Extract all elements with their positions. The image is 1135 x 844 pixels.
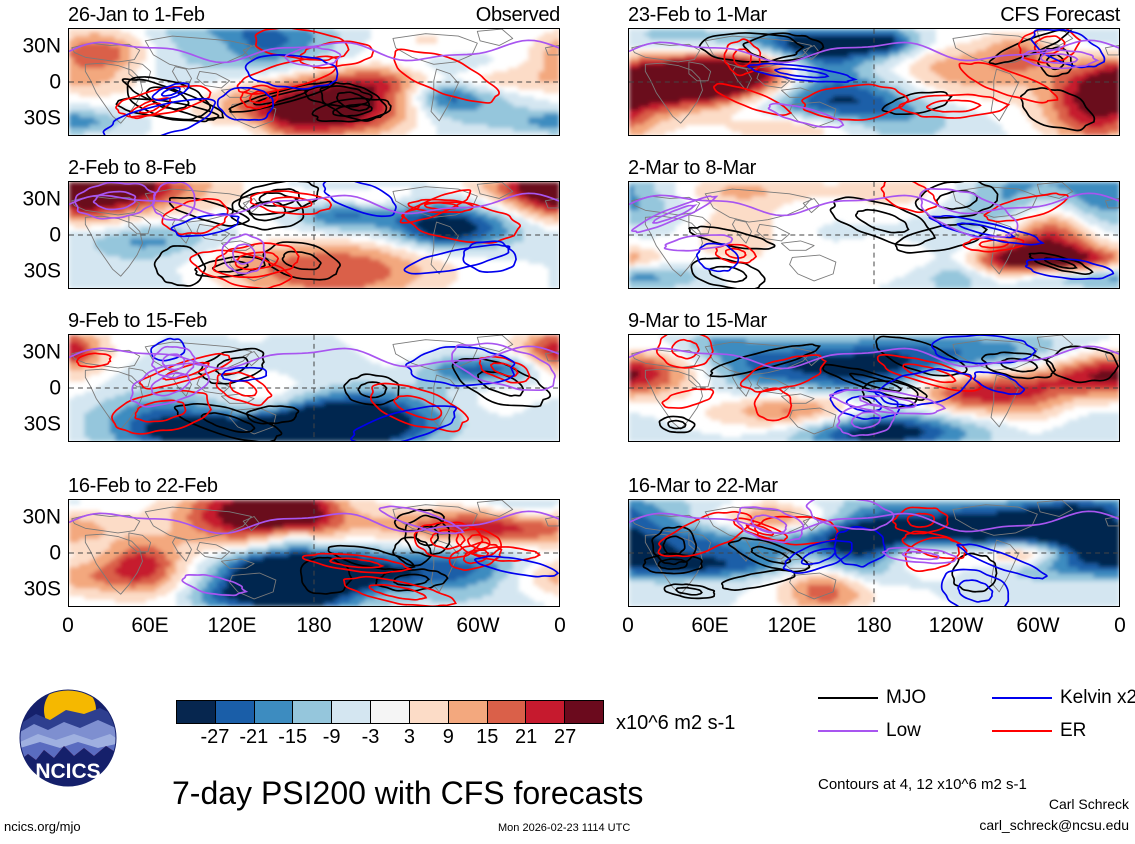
legend-line-icon [818,730,878,732]
map-canvas [68,181,560,289]
panel-title: 2-Mar to 8-Mar [628,158,756,178]
timestamp: Mon 2026-02-23 1114 UTC [498,822,630,834]
legend-line-icon [992,730,1052,732]
colorbar-tick-label: -9 [323,726,341,748]
panel-title: 16-Mar to 22-Mar [628,476,778,496]
x-axis: 060E120E180120W60W0 [68,615,560,643]
panel-title: 9-Mar to 15-Mar [628,311,767,331]
panel-title: 16-Feb to 22-Feb [68,476,218,496]
x-axis-tick-label: 180 [856,615,891,636]
colorbar-segment [216,701,255,723]
map-panel: 2-Mar to 8-Mar [628,181,1120,289]
panel-title: 23-Feb to 1-Mar [628,5,767,25]
colorbar-segment [255,701,294,723]
colorbar-segment [371,701,410,723]
y-axis-tick-label: 0 [49,543,61,564]
legend-label: MJO [886,688,926,707]
logo-label: NCICS [35,760,100,783]
y-axis-tick-label: 30N [22,342,61,363]
colorbar-segment [332,701,371,723]
colorbar-segment [177,701,216,723]
main-title: 7-day PSI200 with CFS forecasts [172,776,643,810]
legend-item-mjo: MJO [818,688,926,707]
colorbar [176,700,604,724]
colorbar-tick-labels: -27-21-15-9-339152127 [176,726,604,750]
column-header: Observed [476,5,560,25]
author-email[interactable]: carl_schreck@ncsu.edu [979,818,1129,833]
panel-title: 2-Feb to 8-Feb [68,158,196,178]
map-panel: 26-Jan to 1-FebObserved30N030S [68,28,560,136]
y-axis-tick-label: 30N [22,36,61,57]
colorbar-tick-label: -15 [278,726,307,748]
map-canvas [628,499,1120,607]
colorbar-tick-label: 9 [443,726,454,748]
map-panel: 2-Feb to 8-Feb30N030S [68,181,560,289]
panel-title: 26-Jan to 1-Feb [68,5,205,25]
x-axis-tick-label: 120W [929,615,984,636]
y-axis-tick-label: 30N [22,507,61,528]
map-panel: 23-Feb to 1-MarCFS Forecast [628,28,1120,136]
legend-line-icon [992,697,1052,699]
colorbar-tick-label: 15 [476,726,498,748]
map-canvas [68,499,560,607]
colorbar-segment [410,701,449,723]
y-axis-tick-label: 0 [49,378,61,399]
colorbar-tick-label: -21 [239,726,268,748]
author-name: Carl Schreck [1049,797,1129,812]
map-panel: 9-Feb to 15-Feb30N030S [68,334,560,442]
map-panel: 16-Mar to 22-Mar [628,499,1120,607]
legend-item-er: ER [992,721,1086,740]
map-canvas [68,334,560,442]
x-axis-tick-label: 0 [554,615,566,636]
colorbar-segment [526,701,565,723]
colorbar-swatches [176,700,604,724]
legend-label: Kelvin x2 [1060,688,1135,707]
x-axis-tick-label: 120E [767,615,816,636]
x-axis-tick-label: 60W [456,615,499,636]
y-axis-tick-label: 0 [49,72,61,93]
legend-item-low: Low [818,721,921,740]
colorbar-units-label: x10^6 m2 s-1 [616,713,735,733]
legend-label: ER [1060,721,1086,740]
map-canvas [628,181,1120,289]
y-axis-tick-label: 30N [22,189,61,210]
colorbar-tick-label: -3 [362,726,380,748]
colorbar-segment [449,701,488,723]
x-axis-tick-label: 0 [62,615,74,636]
y-axis-tick-label: 0 [49,225,61,246]
x-axis-tick-label: 60E [131,615,168,636]
map-canvas [628,28,1120,136]
colorbar-tick-label: 21 [515,726,537,748]
contour-note: Contours at 4, 12 x10^6 m2 s-1 [818,777,1027,793]
panel-title: 9-Feb to 15-Feb [68,311,207,331]
colorbar-tick-label: -27 [200,726,229,748]
ncics-logo: NCICS [14,684,122,792]
colorbar-tick-label: 3 [404,726,415,748]
map-panel: 16-Feb to 22-Feb30N030S [68,499,560,607]
column-header: CFS Forecast [1000,5,1120,25]
legend-item-kelvin: Kelvin x2 [992,688,1135,707]
map-canvas [68,28,560,136]
colorbar-segment [488,701,527,723]
x-axis-tick-label: 60W [1016,615,1059,636]
legend-line-icon [818,697,878,699]
x-axis-tick-label: 180 [296,615,331,636]
x-axis: 060E120E180120W60W0 [628,615,1120,643]
contour-legend: MJO Kelvin x2 Low ER [818,688,1128,750]
panel-grid: 26-Jan to 1-FebObserved30N030S23-Feb to … [0,0,1135,620]
x-axis-tick-label: 0 [1114,615,1126,636]
y-axis-tick-label: 30S [24,414,61,435]
y-axis-tick-label: 30S [24,108,61,129]
x-axis-tick-label: 0 [622,615,634,636]
x-axis-tick-label: 120W [369,615,424,636]
colorbar-tick-label: 27 [554,726,576,748]
y-axis-tick-label: 30S [24,261,61,282]
map-canvas [628,334,1120,442]
x-axis-tick-label: 60E [691,615,728,636]
colorbar-segment [565,701,603,723]
y-axis-tick-label: 30S [24,579,61,600]
colorbar-segment [293,701,332,723]
site-url[interactable]: ncics.org/mjo [4,820,81,834]
legend-label: Low [886,721,921,740]
map-panel: 9-Mar to 15-Mar [628,334,1120,442]
x-axis-tick-label: 120E [207,615,256,636]
